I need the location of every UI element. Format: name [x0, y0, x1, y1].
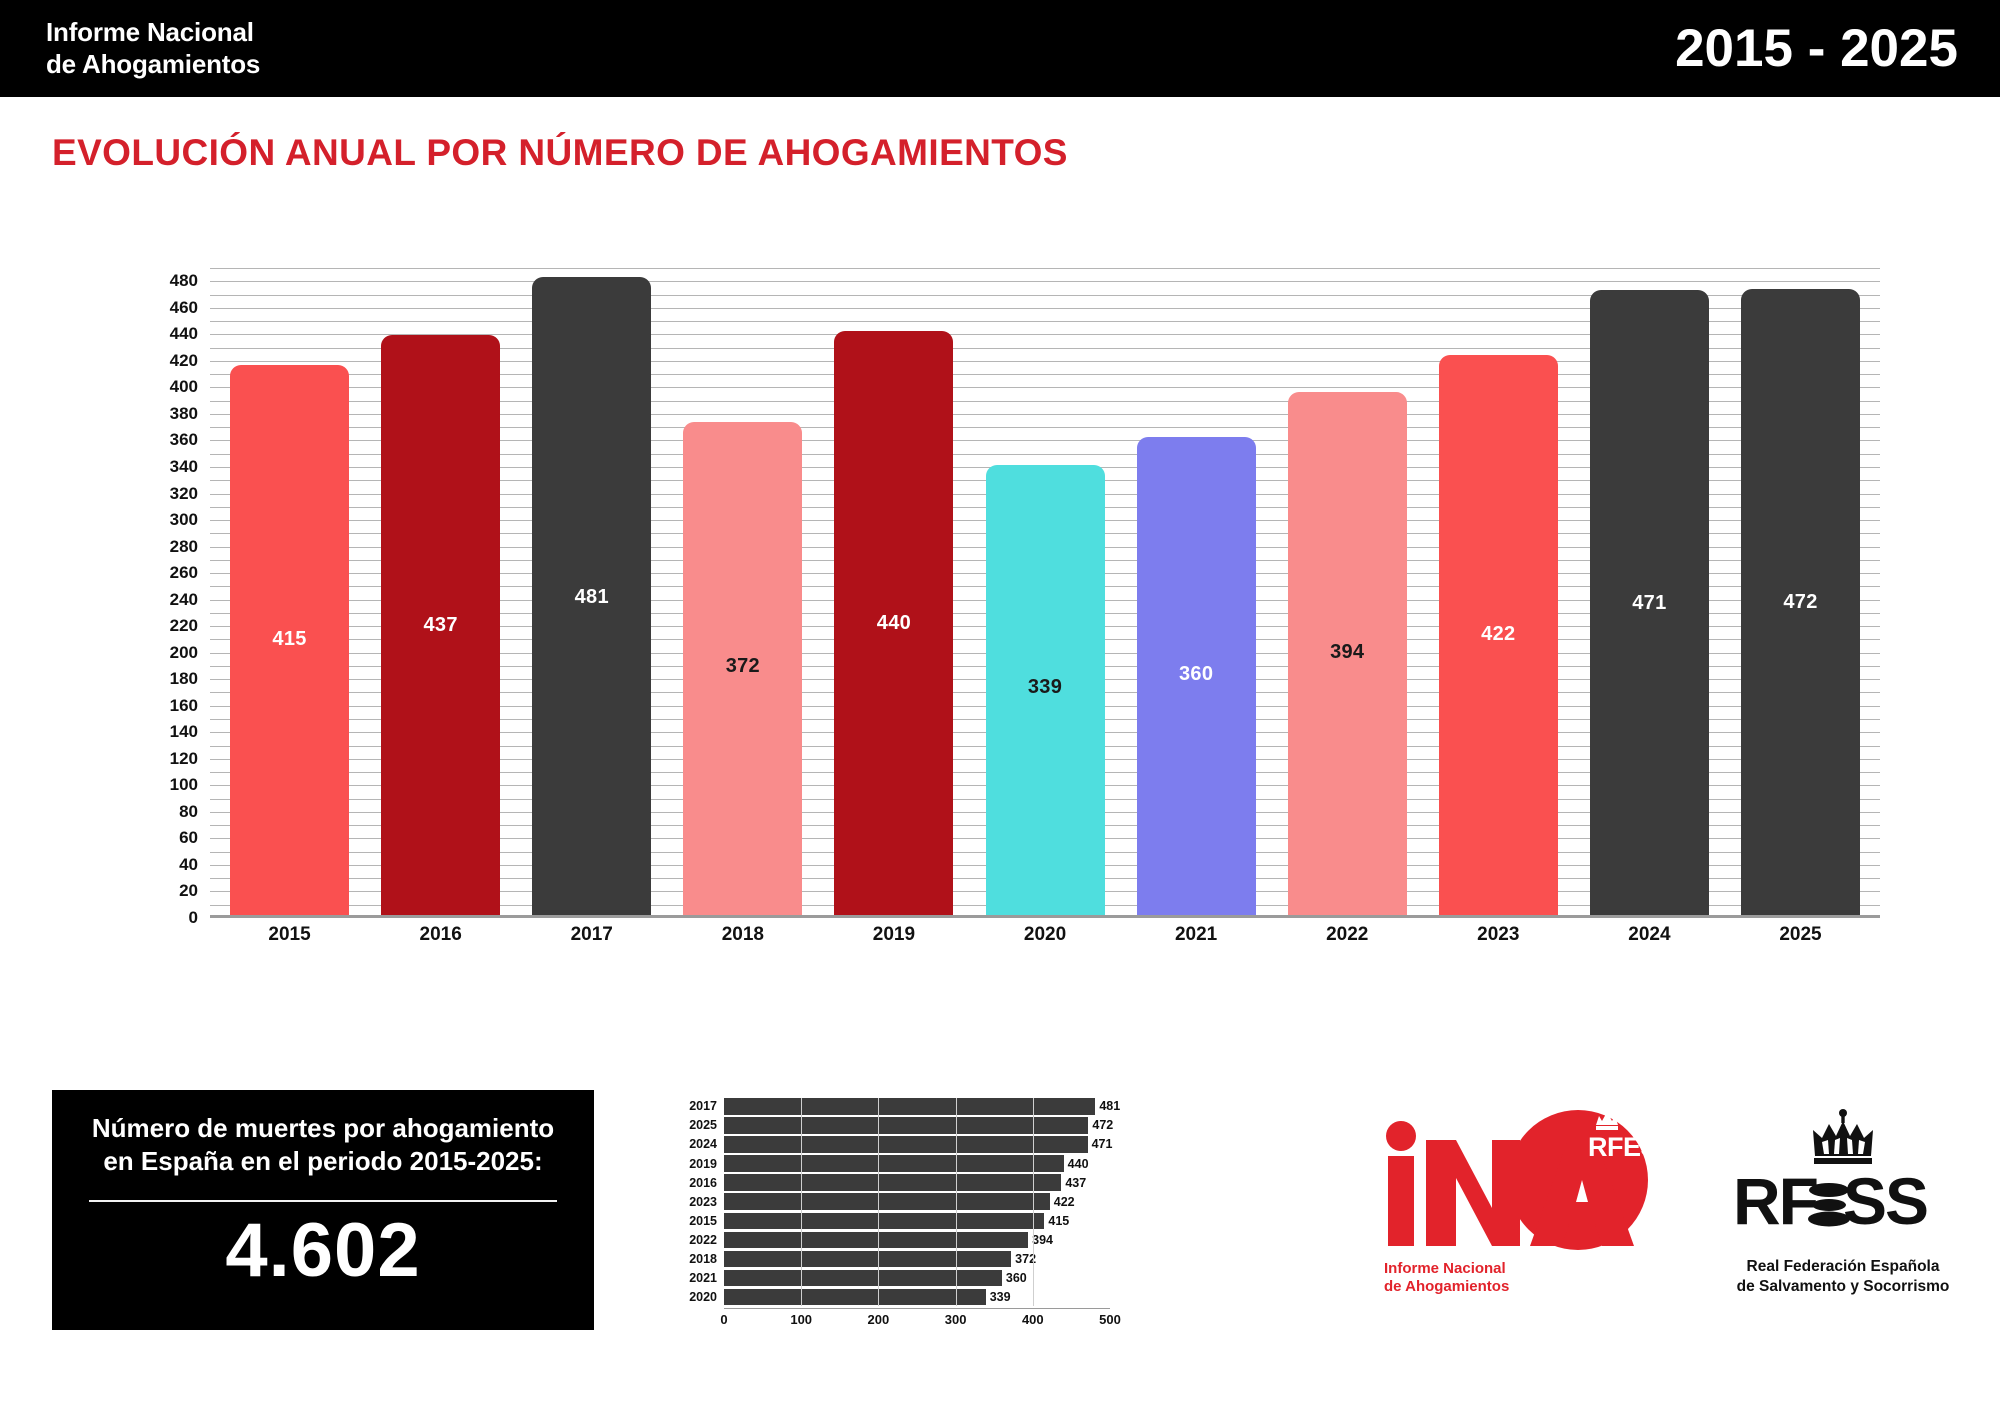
y-tick-label: 60 [179, 828, 198, 848]
x-tick-label: 2023 [1423, 924, 1574, 946]
ranked-year-label: 2017 [680, 1099, 724, 1113]
ranked-year-label: 2020 [680, 1290, 724, 1304]
x-tick-label: 2019 [818, 924, 969, 946]
ranked-row[interactable]: 2018372 [680, 1251, 1110, 1268]
ranked-track: 415 [724, 1213, 1110, 1230]
bar-value-label: 440 [834, 612, 953, 635]
x-tick-label: 2018 [667, 924, 818, 946]
ranked-x-tick: 500 [1099, 1312, 1121, 1327]
ranked-vgrid [1033, 1098, 1034, 1306]
bar-column[interactable]: 440 [818, 268, 969, 915]
ina-logo-caption: Informe Nacional de Ahogamientos [1384, 1260, 1509, 1297]
ranked-bar[interactable] [724, 1251, 1011, 1268]
ranked-track: 471 [724, 1136, 1110, 1153]
x-tick-label: 2016 [365, 924, 516, 946]
bar-column[interactable]: 481 [516, 268, 667, 915]
brand-title-line2: de Ahogamientos [46, 49, 260, 81]
ranked-row[interactable]: 2023422 [680, 1193, 1110, 1210]
ranked-vgrid [956, 1098, 957, 1306]
total-caption-line1: Número de muertes por ahogamiento [73, 1112, 573, 1145]
ranked-bar[interactable] [724, 1174, 1061, 1191]
ranked-bar[interactable] [724, 1232, 1028, 1249]
total-deaths-box: Número de muertes por ahogamiento en Esp… [52, 1090, 594, 1330]
bar-column[interactable]: 339 [969, 268, 1120, 915]
y-tick-label: 220 [170, 616, 198, 636]
ranked-year-label: 2016 [680, 1176, 724, 1190]
divider [89, 1200, 557, 1202]
y-tick-label: 160 [170, 696, 198, 716]
bar-value-label: 471 [1590, 592, 1709, 615]
ranked-track: 360 [724, 1270, 1110, 1287]
y-tick-label: 40 [179, 855, 198, 875]
ranked-years-chart: 2017481202547220244712019440201643720234… [680, 1098, 1110, 1328]
x-tick-label: 2021 [1121, 924, 1272, 946]
infographic-page: Informe Nacional de Ahogamientos 2015 - … [0, 0, 2000, 1414]
rfess-sub-line1: Real Federación Española [1737, 1257, 1950, 1277]
x-tick-label: 2024 [1574, 924, 1725, 946]
ranked-value-label: 472 [1088, 1118, 1113, 1132]
rfess-subtitle: Real Federación Española de Salvamento y… [1737, 1257, 1950, 1297]
y-tick-label: 340 [170, 457, 198, 477]
x-tick-label: 2025 [1725, 924, 1876, 946]
ranked-x-axis: 0100200300400500 [724, 1308, 1110, 1330]
ranked-track: 481 [724, 1098, 1110, 1115]
bar-column[interactable]: 372 [667, 268, 818, 915]
ranked-track: 472 [724, 1117, 1110, 1134]
y-tick-label: 80 [179, 802, 198, 822]
ranked-track: 394 [724, 1232, 1110, 1249]
y-tick-label: 480 [170, 271, 198, 291]
ranked-value-label: 422 [1050, 1195, 1075, 1209]
y-tick-label: 140 [170, 722, 198, 742]
rfess-letters: RF SS [1733, 1168, 1953, 1238]
ranked-vgrid [878, 1098, 879, 1306]
bar-value-label: 339 [986, 676, 1105, 699]
ranked-row[interactable]: 2015415 [680, 1213, 1110, 1230]
total-caption-line2: en España en el periodo 2015-2025: [73, 1145, 573, 1178]
period-range: 2015 - 2025 [1675, 22, 1958, 75]
ranked-rows: 2017481202547220244712019440201643720234… [680, 1098, 1110, 1305]
ranked-row[interactable]: 2016437 [680, 1174, 1110, 1191]
y-tick-label: 240 [170, 590, 198, 610]
bar[interactable]: 372 [683, 422, 802, 915]
ranked-bar[interactable] [724, 1213, 1044, 1230]
y-tick-label: 380 [170, 404, 198, 424]
ranked-row[interactable]: 2017481 [680, 1098, 1110, 1115]
bar-column[interactable]: 422 [1423, 268, 1574, 915]
bar[interactable]: 437 [381, 335, 500, 915]
ranked-value-label: 437 [1061, 1176, 1086, 1190]
bar-value-label: 472 [1741, 591, 1860, 614]
x-tick-label: 2020 [969, 924, 1120, 946]
ranked-bar[interactable] [724, 1193, 1050, 1210]
y-tick-label: 420 [170, 351, 198, 371]
y-tick-label: 460 [170, 298, 198, 318]
ina-caption-line1: Informe Nacional [1384, 1260, 1509, 1278]
y-tick-label: 280 [170, 537, 198, 557]
ranked-row[interactable]: 2019440 [680, 1155, 1110, 1172]
rfess-sub-line2: de Salvamento y Socorrismo [1737, 1277, 1950, 1297]
bar-column[interactable]: 394 [1272, 268, 1423, 915]
ranked-year-label: 2023 [680, 1195, 724, 1209]
y-tick-label: 320 [170, 484, 198, 504]
ranked-value-label: 360 [1002, 1271, 1027, 1285]
ranked-year-label: 2021 [680, 1271, 724, 1285]
ina-badge-text: RFESS [1588, 1132, 1676, 1162]
ranked-row[interactable]: 2024471 [680, 1136, 1110, 1153]
ranked-row[interactable]: 2021360 [680, 1270, 1110, 1287]
ranked-year-label: 2015 [680, 1214, 724, 1228]
ranked-bar[interactable] [724, 1270, 1002, 1287]
ranked-row[interactable]: 2025472 [680, 1117, 1110, 1134]
ranked-year-label: 2024 [680, 1137, 724, 1151]
ranked-x-tick: 400 [1022, 1312, 1044, 1327]
ranked-year-label: 2025 [680, 1118, 724, 1132]
total-value: 4.602 [225, 1206, 420, 1296]
ranked-track: 422 [724, 1193, 1110, 1210]
y-tick-label: 20 [179, 881, 198, 901]
bar-value-label: 372 [683, 655, 802, 678]
plot-area: 415437481372440339360394422471472 [210, 268, 1880, 918]
y-tick-label: 120 [170, 749, 198, 769]
ranked-track: 339 [724, 1289, 1110, 1306]
header-bar: Informe Nacional de Ahogamientos 2015 - … [0, 0, 2000, 97]
crown-icon [1797, 1108, 1889, 1166]
ranked-x-tick: 0 [720, 1312, 727, 1327]
bar-series: 415437481372440339360394422471472 [210, 268, 1880, 915]
total-caption: Número de muertes por ahogamiento en Esp… [73, 1112, 573, 1178]
bar[interactable]: 422 [1439, 355, 1558, 915]
ranked-track: 437 [724, 1174, 1110, 1191]
y-axis-labels: 0204060801001201401601802002202402602803… [150, 268, 198, 918]
brand-title-line1: Informe Nacional [46, 17, 260, 49]
ranked-bar[interactable] [724, 1098, 1095, 1115]
y-tick-label: 180 [170, 669, 198, 689]
bar[interactable]: 472 [1741, 289, 1860, 915]
x-tick-label: 2017 [516, 924, 667, 946]
bar-column[interactable]: 472 [1725, 268, 1876, 915]
ranked-x-tick: 300 [945, 1312, 967, 1327]
y-tick-label: 400 [170, 377, 198, 397]
ranked-bar[interactable] [724, 1289, 986, 1306]
ranked-row[interactable]: 2022394 [680, 1232, 1110, 1249]
y-tick-label: 260 [170, 563, 198, 583]
bar[interactable]: 481 [532, 277, 651, 915]
bar-value-label: 437 [381, 614, 500, 637]
x-tick-label: 2022 [1272, 924, 1423, 946]
bar-value-label: 422 [1439, 623, 1558, 646]
ranked-year-label: 2018 [680, 1252, 724, 1266]
annual-evolution-chart: 0204060801001201401601802002202402602803… [150, 268, 1880, 928]
ranked-row[interactable]: 2020339 [680, 1289, 1110, 1306]
ranked-value-label: 415 [1044, 1214, 1069, 1228]
svg-text:RF: RF [1733, 1168, 1817, 1238]
bar-value-label: 360 [1137, 663, 1256, 686]
bar[interactable]: 394 [1288, 392, 1407, 915]
ina-caption-line2: de Ahogamientos [1384, 1278, 1509, 1296]
ranked-vgrid [801, 1098, 802, 1306]
ranked-year-label: 2019 [680, 1157, 724, 1171]
svg-text:SS: SS [1843, 1168, 1927, 1238]
ranked-value-label: 339 [986, 1290, 1011, 1304]
rfess-wordmark: RF SS [1733, 1168, 1953, 1249]
ranked-year-label: 2022 [680, 1233, 724, 1247]
y-tick-label: 200 [170, 643, 198, 663]
rfess-logo: RF SS Real Federación Española de Salvam… [1718, 1108, 1968, 1323]
bar[interactable]: 440 [834, 331, 953, 915]
bar[interactable]: 471 [1590, 290, 1709, 915]
x-axis-labels: 2015201620172018201920202021202220232024… [210, 924, 1880, 946]
ranked-x-tick: 200 [868, 1312, 890, 1327]
ranked-x-tick: 100 [790, 1312, 812, 1327]
x-tick-label: 2015 [214, 924, 365, 946]
ranked-bar[interactable] [724, 1155, 1064, 1172]
bar-value-label: 481 [532, 586, 651, 609]
bar[interactable]: 360 [1137, 437, 1256, 915]
bar-column[interactable]: 437 [365, 268, 516, 915]
y-tick-label: 440 [170, 324, 198, 344]
bar[interactable]: 339 [986, 465, 1105, 915]
brand-title: Informe Nacional de Ahogamientos [46, 17, 260, 80]
bar-column[interactable]: 471 [1574, 268, 1725, 915]
bar-column[interactable]: 415 [214, 268, 365, 915]
ina-logo-mark: RFESS [1380, 1108, 1680, 1258]
y-tick-label: 100 [170, 775, 198, 795]
page-title: EVOLUCIÓN ANUAL POR NÚMERO DE AHOGAMIENT… [52, 132, 1068, 174]
y-tick-label: 300 [170, 510, 198, 530]
bar-column[interactable]: 360 [1121, 268, 1272, 915]
ina-logo: RFESS Informe Nacional de Ahogamientos [1380, 1108, 1680, 1323]
ranked-track: 372 [724, 1251, 1110, 1268]
bar[interactable]: 415 [230, 365, 349, 916]
bar-value-label: 415 [230, 628, 349, 651]
ranked-value-label: 440 [1064, 1157, 1089, 1171]
ranked-value-label: 481 [1095, 1099, 1120, 1113]
y-tick-label: 360 [170, 430, 198, 450]
ranked-track: 440 [724, 1155, 1110, 1172]
ranked-value-label: 471 [1088, 1137, 1113, 1151]
y-tick-label: 0 [189, 908, 198, 928]
bar-value-label: 394 [1288, 641, 1407, 664]
